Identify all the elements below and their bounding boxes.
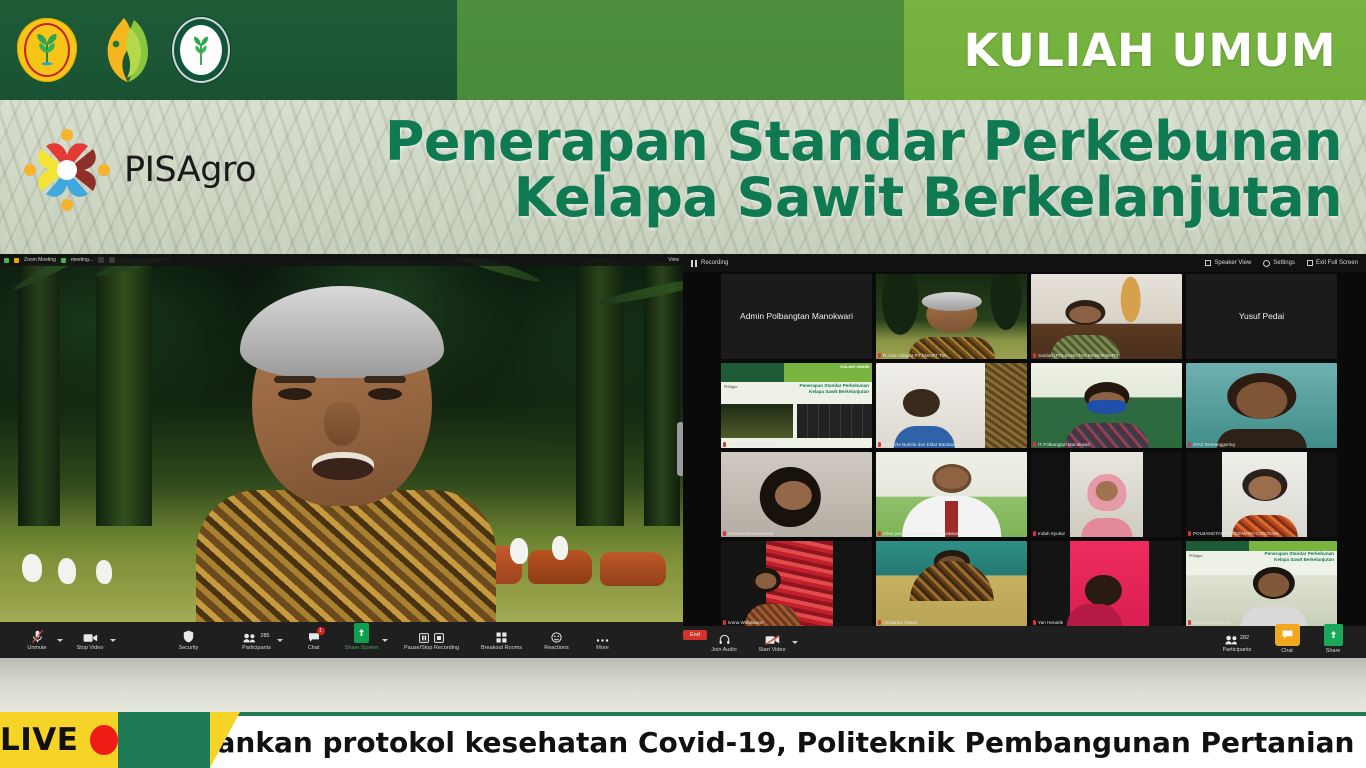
- ticker-wedge: [118, 712, 210, 768]
- chat-bubble-icon: [1275, 630, 1300, 646]
- participant-name-label: Indah Syukur: [1038, 531, 1065, 536]
- speaker-view-icon: [1205, 260, 1211, 266]
- control-pause-stop-recording-label: Pause/Stop Recording: [404, 645, 459, 651]
- participant-name-label: DIAZ Demanggoring: [1193, 442, 1235, 447]
- video-scrollbar-handle[interactable]: [677, 422, 683, 476]
- participant-tile[interactable]: Kelvinha Nurlela dan Eldar Barubalake: [876, 363, 1027, 448]
- participant-name-label: R.Azis Hidayat-PT SMART Tbk.: [883, 353, 948, 358]
- participant-name-row: Sardan (POLBANGTAN MANOKWARI): [1033, 353, 1118, 358]
- recording-pause-icon: [691, 260, 697, 267]
- control-share-label: Share: [1326, 648, 1341, 654]
- microphone-icon: [878, 442, 881, 447]
- participant-tile[interactable]: Yan Henarik: [1031, 541, 1182, 626]
- control-chat[interactable]: 1 Chat: [297, 630, 331, 651]
- participant-tile[interactable]: Hermawati Manokwari: [721, 452, 872, 537]
- microphone-icon: [1188, 620, 1191, 625]
- control-unmute[interactable]: Unmute: [20, 630, 54, 651]
- participant-name-label: erlan paranta_Polbangtan Manokwari: [883, 531, 959, 536]
- participant-name-label: Ivona Wobdawon: [728, 620, 763, 625]
- ellipsis-icon: [596, 630, 609, 643]
- ticker-text-area: alankan protokol kesehatan Covid-19, Pol…: [210, 712, 1366, 768]
- stop-video-chevron-down-icon[interactable]: [110, 639, 116, 642]
- microphone-icon: [1033, 620, 1036, 625]
- participant-name-center: Yusuf Pedai: [1186, 274, 1337, 359]
- chat-bubble-icon: 1: [308, 630, 320, 643]
- polbangtan-manokwari-logo-icon: [170, 14, 232, 86]
- window-maximize-icon[interactable]: [109, 257, 115, 263]
- participant-name-row: R.Azis Hidayat-PT SMART Tbk.: [878, 353, 948, 358]
- control-chat[interactable]: Chat: [1270, 630, 1304, 654]
- start-video-chevron-down-icon[interactable]: [792, 641, 798, 644]
- live-label: LIVE: [0, 722, 78, 758]
- microphone-icon: [1033, 531, 1036, 536]
- titlebar-secondary-label: meeting...: [71, 257, 93, 263]
- kementerian-pertanian-logo-icon: [14, 15, 80, 85]
- participant-name-center: Admin Polbangtan Manokwari: [721, 274, 872, 359]
- control-stop-video-label: Stop Video: [77, 645, 104, 651]
- participant-name-row: IT Polbangtan Manokwari: [1033, 442, 1090, 447]
- microphone-muted-icon: [32, 630, 43, 643]
- participant-tile[interactable]: R.Azis Hidayat-PT SMART Tbk.: [876, 274, 1027, 359]
- microphone-icon: [1033, 353, 1036, 358]
- microphone-icon: [1188, 442, 1191, 447]
- control-more-label: More: [596, 645, 609, 651]
- gallery-topbar: Recording Speaker View Settings Exit Ful…: [683, 254, 1366, 272]
- microphone-icon: [1188, 531, 1191, 536]
- banner-mid-block: [457, 0, 904, 100]
- zoom-speaker-window: Zoom Meeting meeting... View: [0, 254, 683, 658]
- speaker-view-label: Speaker View: [1214, 260, 1251, 266]
- participant-tile[interactable]: Vinsianus Hasan: [876, 541, 1027, 626]
- control-start-video[interactable]: Start Video: [755, 632, 789, 653]
- event-title-band: PISAgro Penerapan Standar Perkebunan Kel…: [0, 100, 1366, 254]
- exit-full-screen-label: Exit Full Screen: [1316, 260, 1358, 266]
- event-banner-header: KULIAH UMUM: [0, 0, 1366, 100]
- participant-name-label: IT Polbangtan Manokwari: [1038, 442, 1090, 447]
- participant-grid: Admin Polbangtan Manokwari R.Azis Hidaya…: [721, 274, 1337, 626]
- participant-name-row: erlan paranta_Polbangtan Manokwari: [878, 531, 959, 536]
- control-reactions-label: Reactions: [544, 645, 568, 651]
- participant-name-row: Vinsianus Hasan: [878, 620, 917, 625]
- people-icon: 285: [243, 630, 269, 643]
- control-pause-stop-recording[interactable]: Pause/Stop Recording: [402, 630, 462, 651]
- recording-label: Recording: [701, 260, 728, 266]
- window-status-dot-3-icon: [61, 258, 66, 263]
- participant-tile[interactable]: Admin Polbangtan Manokwari: [721, 274, 872, 359]
- microphone-icon: [878, 353, 881, 358]
- control-start-video-label: Start Video: [758, 647, 785, 653]
- exit-full-screen-icon: [1307, 260, 1313, 266]
- control-security[interactable]: Security: [172, 630, 206, 651]
- event-title: Penerapan Standar Perkebunan Kelapa Sawi…: [385, 114, 1342, 226]
- participant-tile[interactable]: Ivona Wobdawon: [721, 541, 872, 626]
- participant-name-row: Ivona Wobdawon: [723, 620, 763, 625]
- participant-name-row: sorbertis Umbleop: [1188, 620, 1230, 625]
- participant-name-label: Kelvinha Nurlela dan Eldar Barubalake: [883, 442, 962, 447]
- participant-name-label: DH Polbangtan Manokwari: [728, 442, 783, 447]
- window-status-dot-2-icon: [14, 258, 19, 263]
- participant-name-row: POLBANGTAN MANOKWARI-CAROLINA: [1188, 531, 1279, 536]
- settings-button[interactable]: Settings: [1263, 260, 1295, 267]
- control-join-audio-label: Join Audio: [711, 647, 736, 653]
- control-share[interactable]: Share: [1316, 630, 1350, 654]
- control-chat-label: Chat: [308, 645, 320, 651]
- participant-name-label: sorbertis Umbleop: [1193, 620, 1230, 625]
- speaker-window-titlebar: Zoom Meeting meeting... View: [0, 254, 683, 266]
- microphone-icon: [878, 620, 881, 625]
- window-status-dot-icon: [4, 258, 9, 263]
- kuliah-umum-label: KULIAH UMUM: [964, 24, 1336, 77]
- live-ticker: LIVE alankan protokol kesehatan Covid-19…: [0, 712, 1366, 768]
- speaker-person-silhouette: [196, 294, 496, 622]
- video-camera-slash-icon: [765, 632, 780, 645]
- reactions-icon: [551, 630, 562, 643]
- ticker-message: alankan protokol kesehatan Covid-19, Pol…: [210, 726, 1366, 759]
- control-participants[interactable]: 285 Participants: [240, 630, 274, 651]
- participant-tile[interactable]: Indah Syukur: [1031, 452, 1182, 537]
- control-breakout-rooms[interactable]: Breakout Rooms: [476, 630, 528, 651]
- participant-name-label: Sardan (POLBANGTAN MANOKWARI): [1038, 353, 1118, 358]
- control-participants[interactable]: 282 Participants: [1220, 632, 1254, 653]
- microphone-icon: [878, 531, 881, 536]
- event-title-line-2: Kelapa Sawit Berkelanjutan: [385, 170, 1342, 226]
- participants-chevron-down-icon[interactable]: [277, 639, 283, 642]
- grid-icon: [496, 630, 507, 643]
- participant-name-row: DH Polbangtan Manokwari: [723, 442, 783, 447]
- people-icon: 282: [1225, 632, 1249, 645]
- live-record-dot-icon: [90, 725, 118, 755]
- live-badge: LIVE: [0, 712, 118, 768]
- participant-tile[interactable]: KULIAH UMUM PISAgro Penerapan Standar Pe…: [721, 363, 872, 448]
- participant-name-row: Kelvinha Nurlela dan Eldar Barubalake: [878, 442, 962, 447]
- control-chat-label: Chat: [1281, 648, 1293, 654]
- control-participants-label: Participants: [1223, 647, 1252, 653]
- shared-screen-thumbnail: KULIAH UMUM PISAgro Penerapan Standar Pe…: [721, 363, 872, 448]
- participant-tile[interactable]: IT Polbangtan Manokwari: [1031, 363, 1182, 448]
- event-title-line-1: Penerapan Standar Perkebunan: [385, 114, 1342, 170]
- broadcast-lower-third: LIVE alankan protokol kesehatan Covid-19…: [0, 658, 1366, 768]
- participant-name-row: Indah Syukur: [1033, 531, 1065, 536]
- exit-full-screen-button[interactable]: Exit Full Screen: [1307, 260, 1358, 266]
- banner-logos: [0, 0, 457, 100]
- perkebunan-flame-logo-icon: [94, 14, 156, 86]
- pause-stop-icon: [419, 630, 444, 643]
- control-reactions[interactable]: Reactions: [540, 630, 574, 651]
- participant-name-row: Yan Henarik: [1033, 620, 1063, 625]
- participant-tile[interactable]: POLBANGTAN MANOKWARI-CAROLINA: [1186, 452, 1337, 537]
- participant-name-row: DIAZ Demanggoring: [1188, 442, 1235, 447]
- microphone-icon: [723, 442, 726, 447]
- share-screen-icon: [354, 630, 369, 643]
- microphone-icon: [723, 531, 726, 536]
- control-breakout-rooms-label: Breakout Rooms: [481, 645, 522, 651]
- participants-count-badge: 282: [1240, 635, 1249, 641]
- share-screen-chevron-down-icon[interactable]: [382, 639, 388, 642]
- unmute-chevron-down-icon[interactable]: [57, 639, 63, 642]
- participant-tile[interactable]: DIAZ Demanggoring: [1186, 363, 1337, 448]
- background-photo-strip: [0, 658, 1366, 712]
- control-join-audio[interactable]: Join Audio: [707, 632, 741, 653]
- microphone-icon: [723, 620, 726, 625]
- control-stop-video[interactable]: Stop Video: [73, 630, 107, 651]
- recording-indicator: Recording: [691, 260, 728, 267]
- participant-name-label: Yan Henarik: [1038, 620, 1063, 625]
- share-up-arrow-icon: [1324, 630, 1343, 646]
- screen: KULIAH UMUM PISAgro Penerapan Standar Pe…: [0, 0, 1366, 768]
- participant-tile[interactable]: PISAgro Penerapan Standar PerkebunanKela…: [1186, 541, 1337, 626]
- video-camera-icon: [83, 630, 98, 643]
- participant-tile[interactable]: Sardan (POLBANGTAN MANOKWARI): [1031, 274, 1182, 359]
- participant-name-label: POLBANGTAN MANOKWARI-CAROLINA: [1193, 531, 1279, 536]
- zoom-application-area: Zoom Meeting meeting... View: [0, 254, 1366, 658]
- participant-tile[interactable]: erlan paranta_Polbangtan Manokwari: [876, 452, 1027, 537]
- gallery-control-bar: End Join Audio Start Video: [683, 626, 1366, 658]
- control-unmute-label: Unmute: [27, 645, 46, 651]
- participant-name-row: Hermawati Manokwari: [723, 531, 773, 536]
- headphone-icon: [719, 632, 730, 645]
- speaker-video-feed: [0, 258, 683, 622]
- banner-right-block: KULIAH UMUM: [904, 0, 1366, 100]
- participant-tile[interactable]: Yusuf Pedai: [1186, 274, 1337, 359]
- shield-icon: [183, 630, 194, 643]
- participants-count-badge: 285: [260, 633, 269, 639]
- pisagro-brand: PISAgro: [22, 127, 256, 213]
- zoom-control-bar: Unmute Stop Video Security: [0, 622, 683, 658]
- titlebar-app-label: Zoom Meeting: [24, 257, 56, 263]
- window-minimize-icon[interactable]: [98, 257, 104, 263]
- participant-name-label: Vinsianus Hasan: [883, 620, 917, 625]
- control-more[interactable]: More: [586, 630, 620, 651]
- control-participants-label: Participants: [242, 645, 271, 651]
- pisagro-logo-icon: [22, 127, 112, 213]
- titlebar-right-label[interactable]: View: [668, 257, 679, 263]
- control-share-screen[interactable]: Share Screen: [345, 630, 379, 651]
- gear-icon: [1263, 260, 1270, 267]
- speaker-view-button[interactable]: Speaker View: [1205, 260, 1251, 266]
- settings-label: Settings: [1273, 260, 1295, 266]
- pisagro-wordmark: PISAgro: [124, 150, 256, 190]
- participant-name-label: Hermawati Manokwari: [728, 531, 773, 536]
- control-share-screen-label: Share Screen: [345, 645, 379, 651]
- chat-unread-badge: 1: [317, 627, 325, 635]
- end-meeting-button[interactable]: End: [683, 630, 707, 640]
- microphone-icon: [1033, 442, 1036, 447]
- control-security-label: Security: [179, 645, 199, 651]
- zoom-gallery-window: Recording Speaker View Settings Exit Ful…: [683, 254, 1366, 658]
